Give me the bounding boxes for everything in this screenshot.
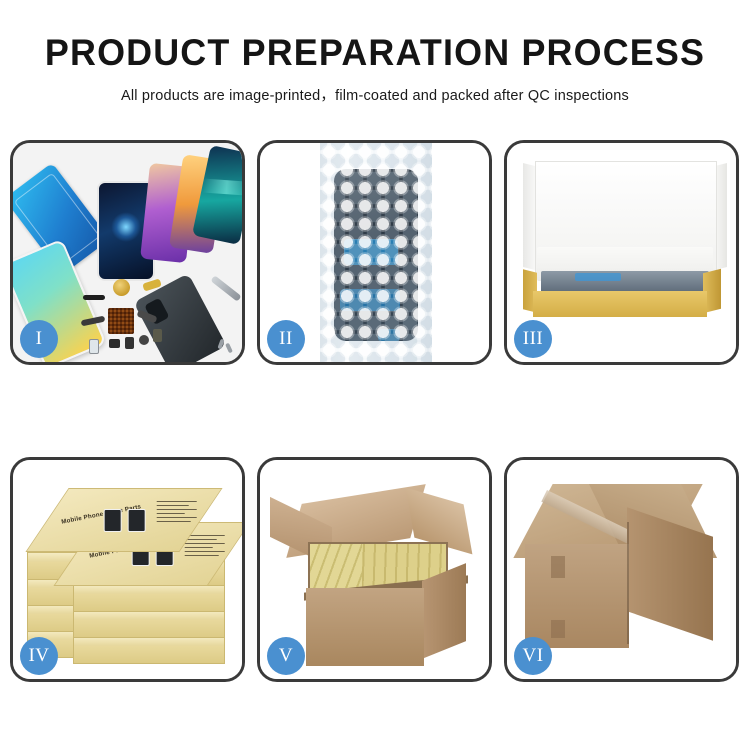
box-phone-image-2	[128, 509, 146, 532]
step-panel-5: V	[257, 457, 492, 682]
carton-front-panel	[525, 544, 629, 648]
step-badge-5: V	[267, 637, 305, 675]
header: PRODUCT PREPARATION PROCESS All products…	[0, 0, 750, 105]
wireless-coil-part	[113, 279, 130, 296]
stacked-box	[73, 584, 225, 612]
wrapped-parts-in-box	[541, 271, 709, 293]
page-subtitle: All products are image-printed，film-coat…	[0, 84, 750, 105]
box-phone-image-1	[104, 509, 122, 532]
lens-part	[139, 335, 149, 345]
step-badge-1: I	[20, 320, 58, 358]
stacked-box	[73, 610, 225, 638]
carton-corner-seam	[627, 522, 629, 644]
repair-tool	[210, 275, 241, 301]
box-front-panel	[533, 291, 707, 317]
process-steps-grid: I II	[10, 140, 740, 682]
bubble-highlights	[320, 143, 432, 362]
box-stack: Mobile Phone Spare Parts Mobile Phone Sp…	[23, 480, 237, 670]
box-spec-lines	[185, 535, 225, 559]
step-panel-3: III	[504, 140, 739, 365]
small-module-part	[109, 339, 120, 348]
camera-module-part	[125, 337, 134, 349]
speaker-part	[83, 295, 105, 300]
carton-tab-lower	[551, 620, 565, 638]
step-panel-1: I	[10, 140, 245, 365]
page-title: PRODUCT PREPARATION PROCESS	[11, 34, 739, 71]
stacked-box	[73, 636, 225, 664]
chip-grid-part	[108, 308, 134, 334]
sim-tray-part	[89, 339, 99, 354]
step-badge-4: IV	[20, 637, 58, 675]
step-panel-4: Mobile Phone Spare Parts Mobile Phone Sp…	[10, 457, 245, 682]
carton-tab-upper	[551, 556, 565, 578]
step-badge-6: VI	[514, 637, 552, 675]
step-badge-2: II	[267, 320, 305, 358]
carton-side-panel	[422, 563, 466, 659]
step-panel-6: VI	[504, 457, 739, 682]
step-panel-2: II	[257, 140, 492, 365]
screw-part-2	[225, 343, 233, 354]
carton-front-panel	[306, 588, 424, 666]
step-badge-3: III	[514, 320, 552, 358]
product-preparation-infographic: PRODUCT PREPARATION PROCESS All products…	[0, 0, 750, 750]
box-spec-lines	[157, 501, 197, 525]
battery-connector-part	[153, 329, 162, 342]
